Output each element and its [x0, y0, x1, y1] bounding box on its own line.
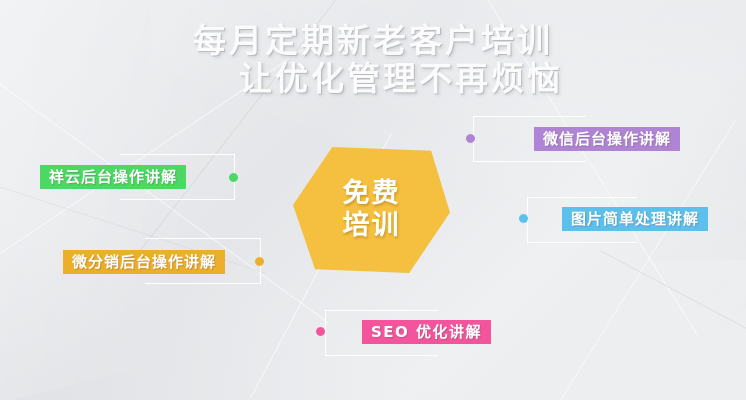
promo-banner: 每月定期新老客户培训 让优化管理不再烦恼 祥云后台操作讲解微分销后台操作讲解微信… [0, 0, 746, 400]
connector-dot-tupian [519, 214, 528, 223]
free-training-hexagon[interactable]: 免费 培训 [293, 147, 450, 273]
headline: 每月定期新老客户培训 让优化管理不再烦恼 [0, 22, 746, 98]
topic-label-xiangyun[interactable]: 祥云后台操作讲解 [40, 165, 186, 189]
connector-dot-xiangyun [229, 173, 238, 182]
connector-dot-seo [316, 327, 325, 336]
connector-dot-weixin [466, 134, 475, 143]
topic-label-tupian[interactable]: 图片简单处理讲解 [562, 207, 708, 231]
headline-line-1: 每月定期新老客户培训 [0, 22, 746, 60]
connector-dot-weifenxiao [255, 257, 264, 266]
headline-line-2: 让优化管理不再烦恼 [0, 60, 746, 98]
background-crease-line [469, 0, 698, 335]
topic-label-seo[interactable]: SEO 优化讲解 [362, 320, 491, 344]
background-crease-line [560, 120, 736, 400]
topic-label-weixin[interactable]: 微信后台操作讲解 [534, 127, 680, 151]
background-crease-line [0, 45, 309, 281]
hexagon-line-2: 培训 [343, 210, 401, 242]
background-crease-line [600, 250, 746, 373]
topic-label-weifenxiao[interactable]: 微分销后台操作讲解 [63, 250, 225, 274]
hexagon-line-1: 免费 [343, 178, 401, 210]
